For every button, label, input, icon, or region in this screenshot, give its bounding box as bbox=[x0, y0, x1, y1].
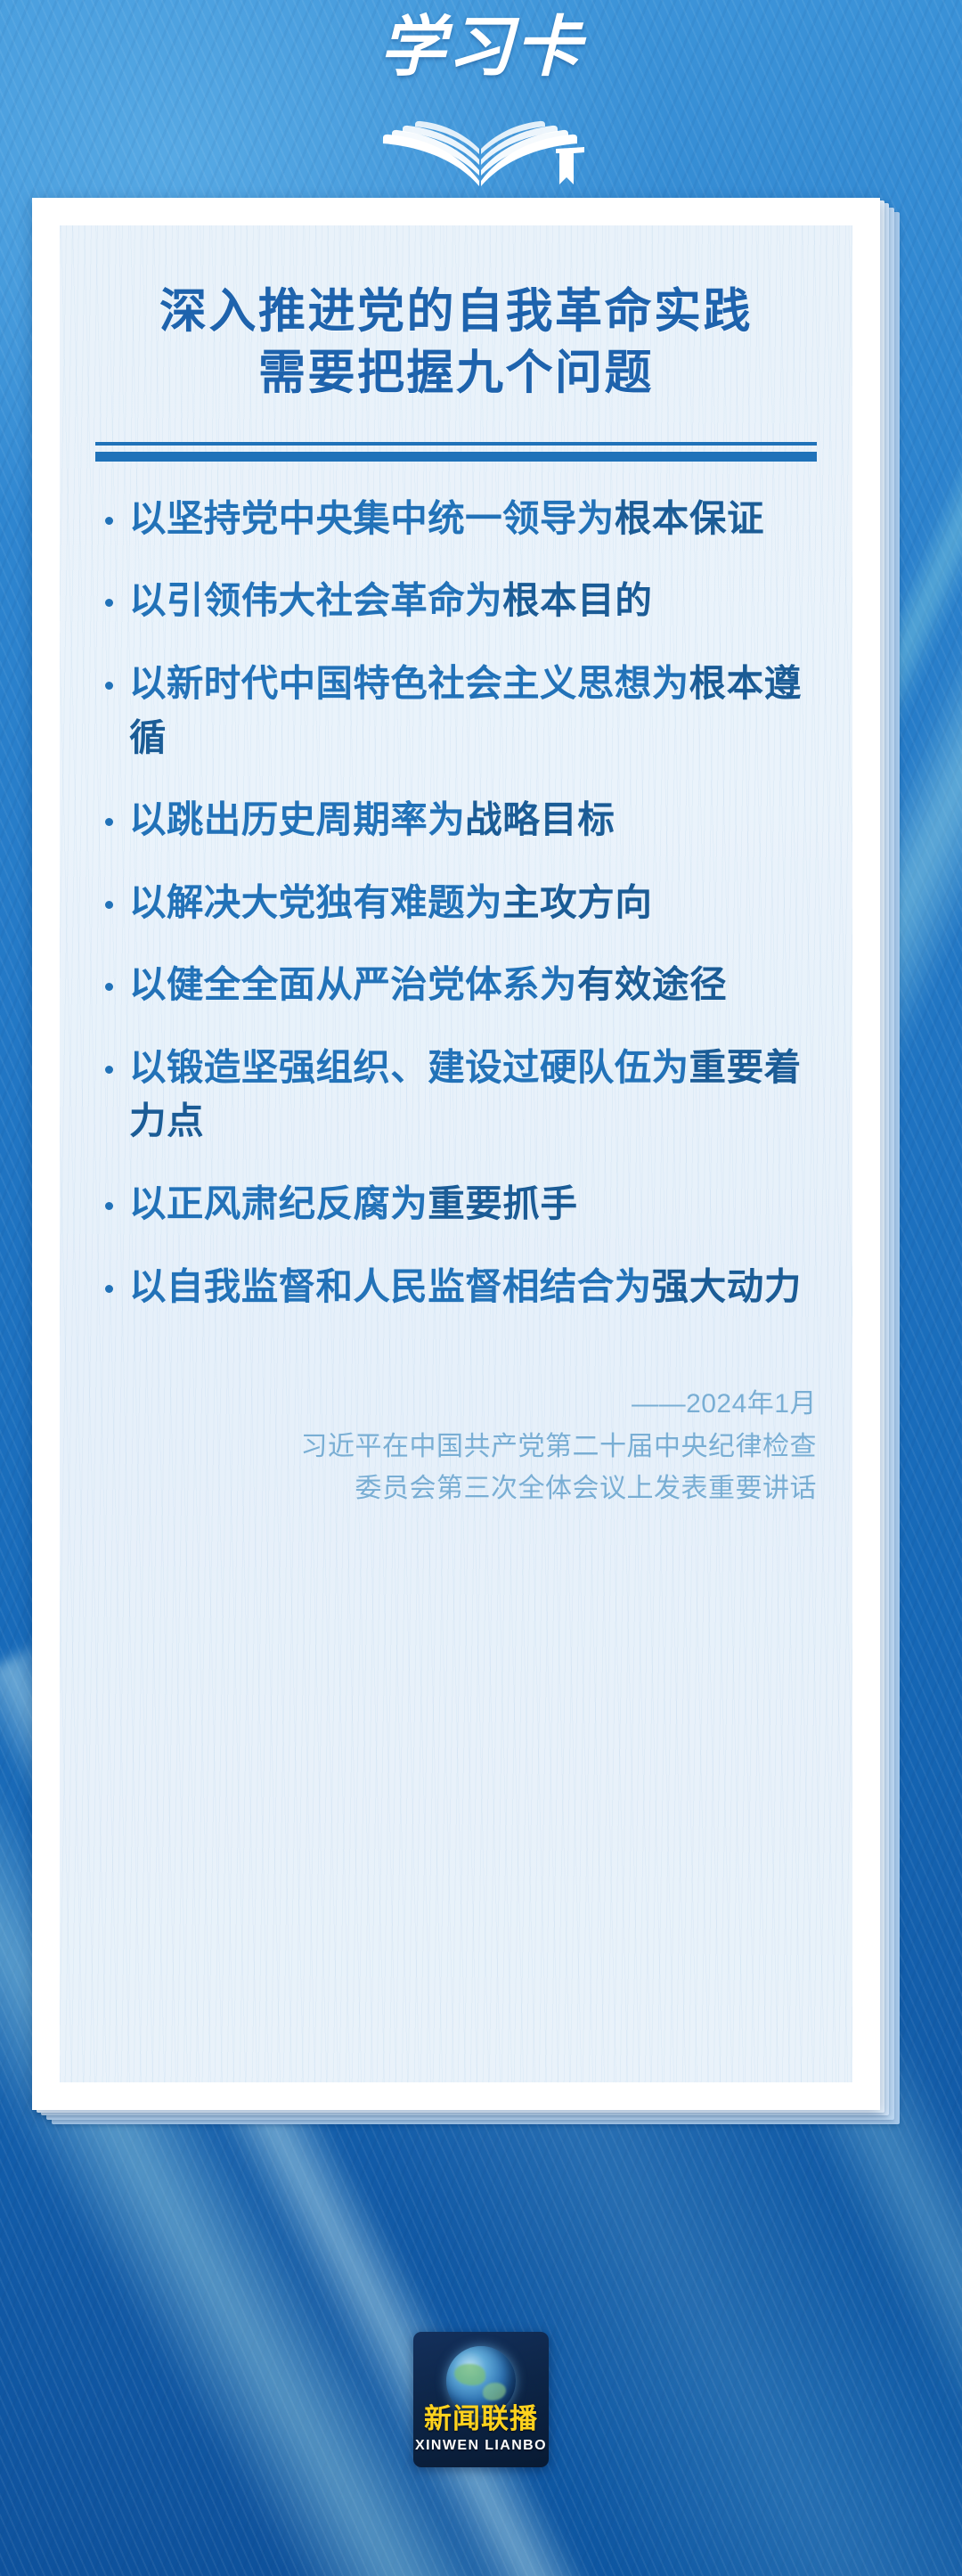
attribution-date: ——2024年1月 bbox=[95, 1383, 817, 1425]
attribution-source-line-1: 习近平在中国共产党第二十届中央纪律检查 bbox=[95, 1426, 817, 1468]
list-item-highlight: 有效途径 bbox=[577, 963, 727, 1005]
list-item-prefix: 以新时代中国特色社会主义思想为 bbox=[129, 662, 689, 704]
list-item: 以健全全面从严治党体系为有效途径 bbox=[97, 958, 819, 1012]
content-card: 深入推进党的自我革命实践 需要把握九个问题 以坚持党中央集中统一领导为根本保证 … bbox=[32, 198, 880, 2110]
list-item-prefix: 以解决大党独有难题为 bbox=[129, 881, 502, 923]
open-book-icon bbox=[374, 102, 588, 188]
list-item-highlight: 重要抓手 bbox=[428, 1182, 577, 1224]
list-item: 以坚持党中央集中统一领导为根本保证 bbox=[97, 492, 819, 546]
list-item-prefix: 以锻造坚强组织、建设过硬队伍为 bbox=[129, 1046, 689, 1088]
divider-thick-rule bbox=[95, 452, 817, 462]
list-item-highlight: 强大动力 bbox=[652, 1265, 802, 1307]
page-title-line-1: 深入推进党的自我革命实践 bbox=[95, 282, 817, 343]
list-item-prefix: 以坚持党中央集中统一领导为 bbox=[129, 497, 615, 539]
list-item-prefix: 以引领伟大社会革命为 bbox=[129, 579, 502, 621]
list-item: 以自我监督和人民监督相结合为强大动力 bbox=[97, 1260, 819, 1314]
list-item-prefix: 以自我监督和人民监督相结合为 bbox=[129, 1265, 652, 1307]
points-list: 以坚持党中央集中统一领导为根本保证 以引领伟大社会革命为根本目的 以新时代中国特… bbox=[97, 492, 819, 1313]
divider-gap bbox=[95, 446, 817, 452]
page-title: 深入推进党的自我革命实践 需要把握九个问题 bbox=[95, 282, 817, 405]
page-title-line-2: 需要把握九个问题 bbox=[95, 343, 817, 405]
list-item: 以引领伟大社会革命为根本目的 bbox=[97, 574, 819, 628]
xinwen-lianbo-logo-cn: 新闻联播 bbox=[413, 2405, 549, 2433]
card-stack: 深入推进党的自我革命实践 需要把握九个问题 以坚持党中央集中统一领导为根本保证 … bbox=[32, 198, 923, 2140]
attribution-source-line-2: 委员会第三次全体会议上发表重要讲话 bbox=[95, 1468, 817, 1509]
list-item: 以解决大党独有难题为主攻方向 bbox=[97, 876, 819, 930]
list-item: 以正风肃纪反腐为重要抓手 bbox=[97, 1177, 819, 1231]
xinwen-lianbo-logo: 新闻联播 XINWEN LIANBO bbox=[413, 2332, 549, 2467]
list-item-highlight: 战略目标 bbox=[465, 798, 615, 840]
header: 学习卡 bbox=[0, 0, 962, 205]
list-item-highlight: 根本目的 bbox=[502, 579, 652, 621]
list-item-highlight: 根本保证 bbox=[615, 497, 764, 539]
list-item-prefix: 以跳出历史周期率为 bbox=[129, 798, 465, 840]
xinwen-lianbo-logo-en: XINWEN LIANBO bbox=[413, 2439, 549, 2453]
attribution: ——2024年1月 习近平在中国共产党第二十届中央纪律检查 委员会第三次全体会议… bbox=[95, 1383, 817, 1509]
title-divider bbox=[95, 442, 817, 462]
study-card-logo-text: 学习卡 bbox=[361, 15, 601, 81]
list-item-prefix: 以正风肃纪反腐为 bbox=[129, 1182, 428, 1224]
list-item-prefix: 以健全全面从严治党体系为 bbox=[129, 963, 577, 1005]
study-card-logo: 学习卡 bbox=[347, 13, 615, 192]
list-item: 以跳出历史周期率为战略目标 bbox=[97, 793, 819, 847]
card-inner-panel: 深入推进党的自我革命实践 需要把握九个问题 以坚持党中央集中统一领导为根本保证 … bbox=[60, 225, 852, 2082]
list-item: 以锻造坚强组织、建设过硬队伍为重要着力点 bbox=[97, 1041, 819, 1149]
list-item-highlight: 主攻方向 bbox=[502, 881, 652, 923]
list-item: 以新时代中国特色社会主义思想为根本遵循 bbox=[97, 657, 819, 765]
